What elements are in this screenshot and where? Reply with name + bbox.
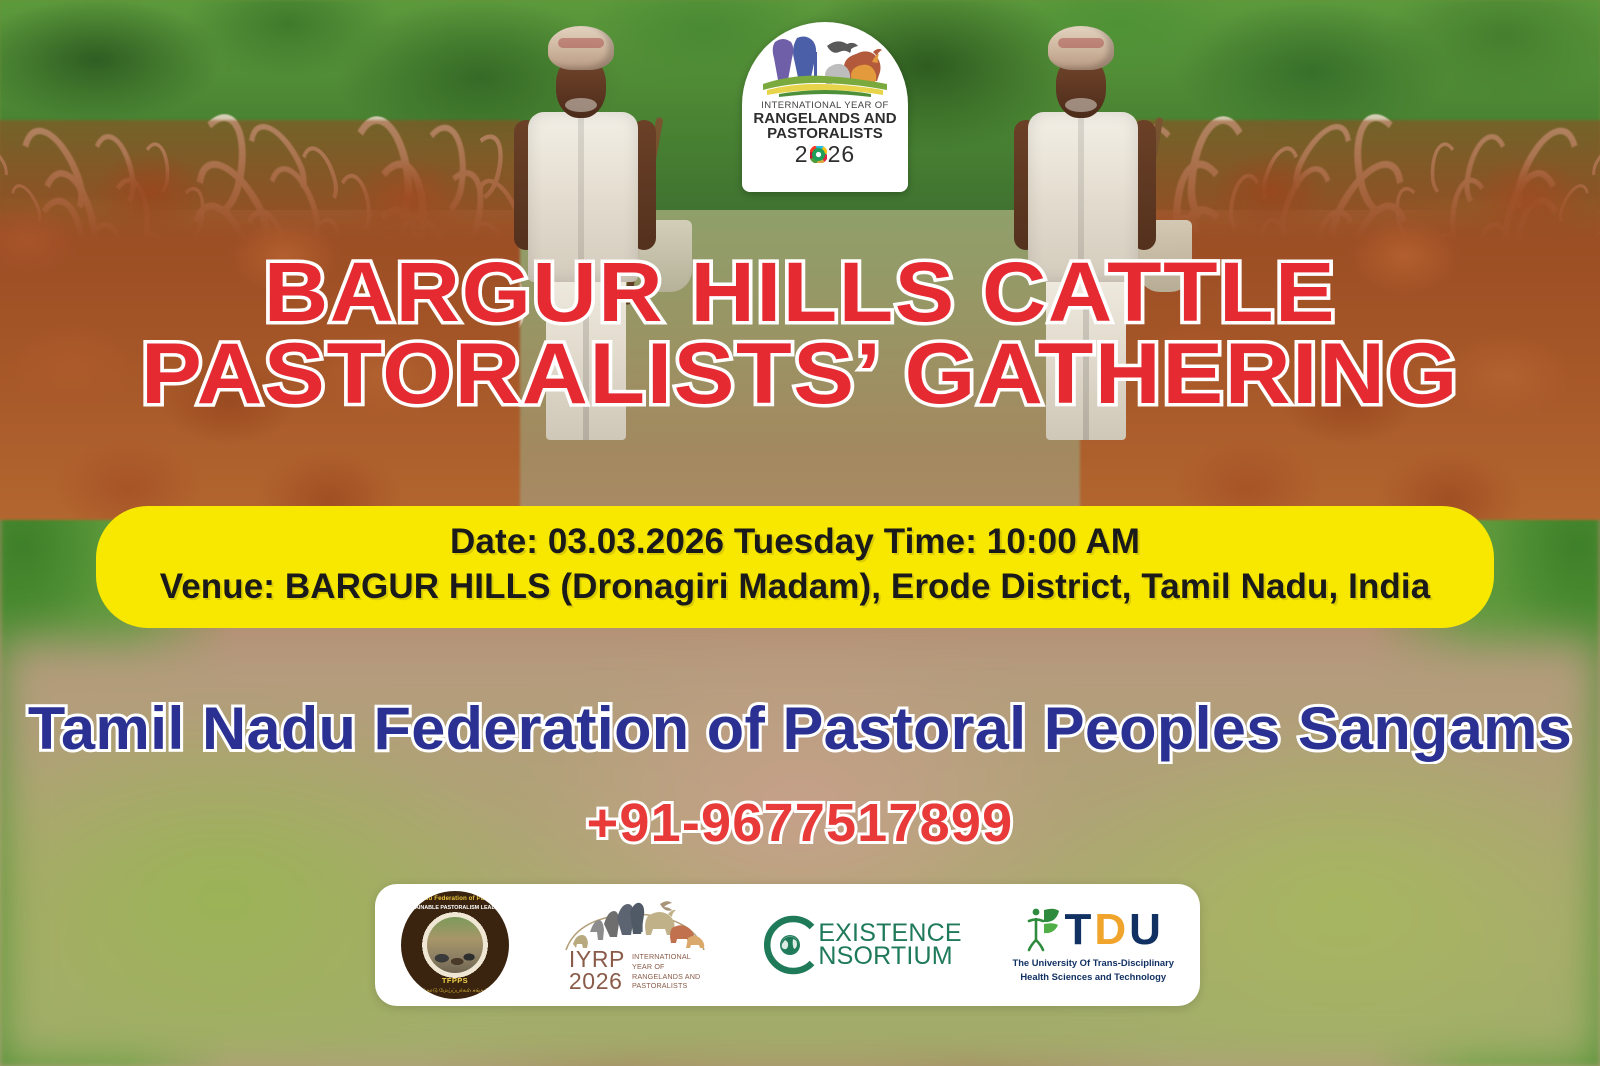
- logo-slot-coexistence: EXISTENCE NSORTIUM: [760, 913, 962, 977]
- headline-line-1: BARGUR HILLS CATTLE: [264, 245, 1336, 339]
- iyrp-mark: IYRP 2026: [569, 949, 625, 991]
- seal-photo-inset: [427, 917, 483, 973]
- tdu-letter-t: T: [1065, 910, 1091, 950]
- globe-in-c-icon: [760, 913, 824, 977]
- badge-line-2b: PASTORALISTS: [767, 125, 883, 142]
- tdu-letter-d: D: [1094, 910, 1125, 950]
- coexistence-consortium-logo: EXISTENCE NSORTIUM: [760, 913, 962, 977]
- event-details-banner: Date: 03.03.2026 Tuesday Time: 10:00 AM …: [96, 506, 1494, 628]
- iyrp-sub-line-1: INTERNATIONAL: [632, 952, 700, 962]
- badge-year-prefix: 2: [795, 143, 809, 166]
- badge-year-suffix: 26: [828, 143, 856, 166]
- tfpps-tamil-text: தமிழ்நாடு மேய்ப்பர்கள் சங்கங்கள்: [401, 988, 509, 995]
- tdu-sprout-figure-icon: [1027, 906, 1061, 952]
- poster-headline: BARGUR HILLS CATTLE PASTORALISTS’ GATHER…: [0, 252, 1600, 415]
- tfpps-outer-text: Tamilnadu Federation of Pastoral Peoples…: [401, 895, 509, 902]
- iyrp-sub-line-3: RANGELANDS AND: [632, 972, 700, 982]
- contact-phone-number: +91-9677517899: [0, 792, 1600, 854]
- iyrp-subtext: INTERNATIONAL YEAR OF RANGELANDS AND PAS…: [632, 949, 700, 991]
- logo-slot-tfpps: Tamilnadu Federation of Pastoral Peoples…: [401, 891, 509, 999]
- tfpps-abbreviation: TFPPS: [401, 976, 509, 985]
- tdu-letter-u: U: [1129, 910, 1160, 950]
- iyrp-2026-logo: IYRP 2026 INTERNATIONAL YEAR OF RANGELAN…: [560, 898, 710, 991]
- event-poster: INTERNATIONAL YEAR OF RANGELANDS AND PAS…: [0, 0, 1600, 1066]
- iyrp-arched-badge: INTERNATIONAL YEAR OF RANGELANDS AND PAS…: [742, 22, 908, 192]
- iyrp-mark-line-2: 2026: [569, 971, 625, 992]
- coexistence-word-2: NSORTIUM: [818, 945, 962, 968]
- tdu-tagline: The University Of Trans-Disciplinary Hea…: [1012, 956, 1174, 983]
- organization-name: Tamil Nadu Federation of Pastoral People…: [0, 694, 1600, 763]
- tdu-tagline-line-1: The University Of Trans-Disciplinary: [1012, 956, 1174, 970]
- iyrp-arc-illustration-icon: [560, 898, 710, 952]
- tdu-tagline-line-2: Health Sciences and Technology: [1012, 970, 1174, 984]
- rangelands-illustration-icon: [761, 36, 889, 98]
- event-datetime: Date: 03.03.2026 Tuesday Time: 10:00 AM: [122, 520, 1468, 565]
- coexistence-wordmark: EXISTENCE NSORTIUM: [818, 922, 962, 968]
- sdg-wheel-icon: [810, 146, 827, 163]
- headline-line-2: PASTORALISTS’ GATHERING: [0, 333, 1600, 416]
- event-venue: Venue: BARGUR HILLS (Dronagiri Madam), E…: [122, 565, 1468, 610]
- logo-slot-iyrp: IYRP 2026 INTERNATIONAL YEAR OF RANGELAN…: [560, 898, 710, 991]
- badge-year: 2 26: [795, 143, 855, 166]
- sponsor-logo-strip: Tamilnadu Federation of Pastoral Peoples…: [375, 884, 1200, 1006]
- tfpps-inner-text: SUSTAINABLE PASTORALISM LEADS TO GREEN E…: [401, 905, 509, 911]
- iyrp-sub-line-2: YEAR OF: [632, 962, 700, 972]
- tfpps-seal-logo: Tamilnadu Federation of Pastoral Peoples…: [401, 891, 509, 999]
- logo-slot-tdu: TDU The University Of Trans-Disciplinary…: [1012, 906, 1174, 983]
- iyrp-sub-line-4: PASTORALISTS: [632, 981, 700, 991]
- tdu-logo: TDU The University Of Trans-Disciplinary…: [1012, 906, 1174, 983]
